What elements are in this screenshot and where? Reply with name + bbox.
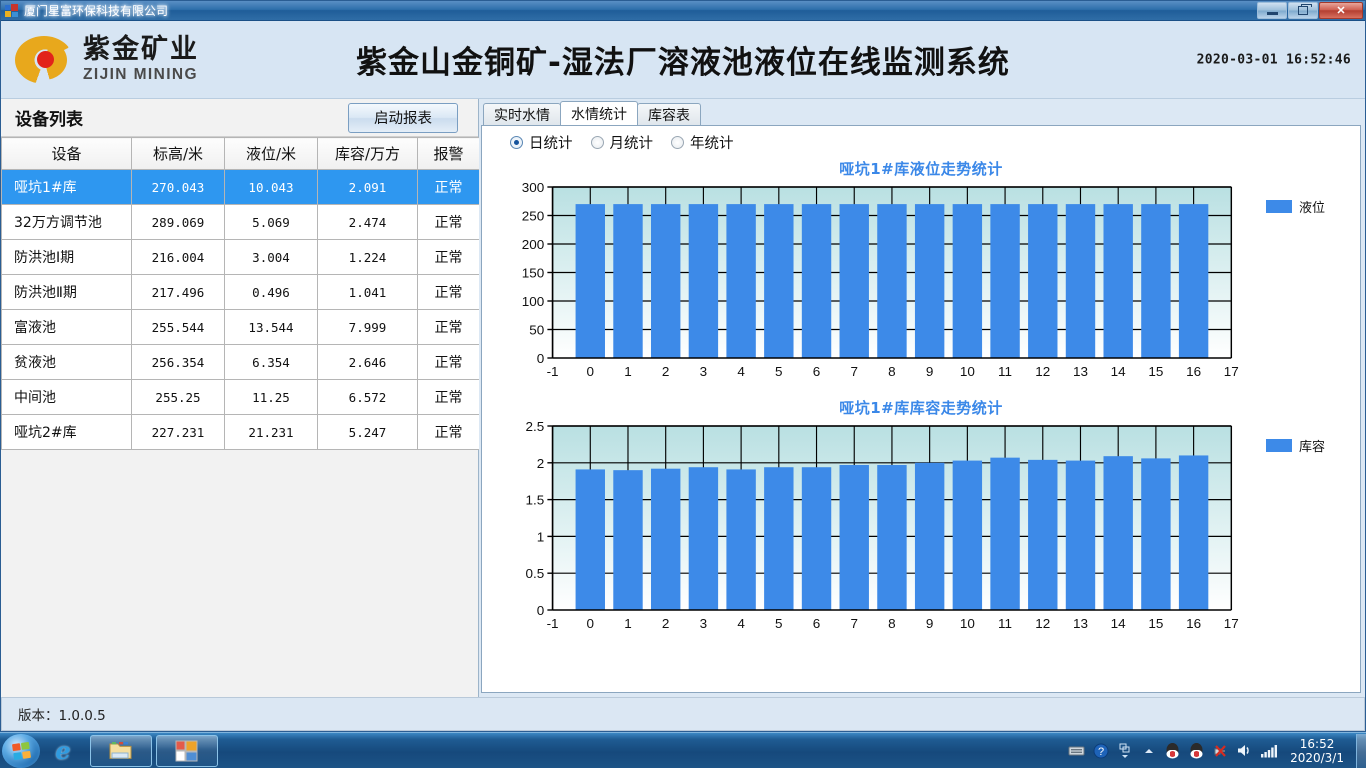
table-cell: 哑坑2#库 [2,415,132,450]
chart-capacity-trend-legend: 库容 [1250,418,1360,455]
svg-text:4: 4 [737,364,745,379]
ie-icon[interactable]: e [40,734,86,768]
windows-logo-icon [11,741,30,759]
system-tray: ? 16:52 2020/3/1 [1068,737,1356,765]
table-cell: 227.231 [132,415,225,450]
radio-1[interactable]: 月统计 [591,132,654,153]
device-list-header: 设备列表 启动报表 [1,99,478,137]
svg-text:8: 8 [888,364,896,379]
svg-text:15: 15 [1148,364,1163,379]
start-report-button[interactable]: 启动报表 [348,103,458,133]
svg-text:14: 14 [1111,364,1126,379]
radio-2[interactable]: 年统计 [671,132,734,153]
svg-text:0: 0 [537,351,545,366]
taskbar-clock-date: 2020/3/1 [1290,751,1344,765]
table-cell: 255.25 [132,380,225,415]
table-cell: 贫液池 [2,345,132,380]
table-row[interactable]: 防洪池Ⅱ期217.4960.4961.041正常 [2,275,480,310]
svg-text:300: 300 [522,180,545,195]
svg-text:2: 2 [662,616,670,631]
table-cell: 2.646 [318,345,418,380]
taskbar-clock-time: 16:52 [1290,737,1344,751]
table-cell: 正常 [418,205,480,240]
svg-text:16: 16 [1186,616,1201,631]
volume-icon[interactable] [1236,742,1253,759]
tab-0[interactable]: 实时水情 [483,103,561,125]
device-list-panel: 设备列表 启动报表 设备标高/米液位/米库容/万方报警 哑坑1#库270.043… [1,99,479,697]
table-column-header-2[interactable]: 液位/米 [225,138,318,170]
svg-text:12: 12 [1035,364,1050,379]
svg-text:-1: -1 [547,364,559,379]
table-cell: 256.354 [132,345,225,380]
table-cell: 正常 [418,310,480,345]
keyboard-icon[interactable] [1068,742,1085,759]
svg-text:150: 150 [522,266,545,281]
content-panel: 实时水情水情统计库容表 日统计月统计年统计 哑坑1#库液位走势统计 050100… [479,99,1365,697]
minimize-button[interactable] [1257,2,1287,19]
application-icon [5,4,19,18]
close-button[interactable]: ✕ [1319,2,1363,19]
chart-level-trend-legend: 液位 [1250,179,1360,216]
svg-text:17: 17 [1224,616,1239,631]
start-button[interactable] [2,734,40,768]
power-unplugged-icon[interactable] [1212,742,1229,759]
table-cell: 正常 [418,415,480,450]
radio-indicator-icon [510,136,523,149]
chart-capacity-trend-plot: 00.511.522.5-101234567891011121314151617 [482,418,1250,641]
statistics-period-group[interactable]: 日统计月统计年统计 [482,126,1360,158]
table-cell: 2.091 [318,170,418,205]
svg-text:9: 9 [926,364,934,379]
device-table[interactable]: 设备标高/米液位/米库容/万方报警 哑坑1#库270.04310.0432.09… [1,137,480,450]
svg-text:4: 4 [737,616,745,631]
table-row[interactable]: 32万方调节池289.0695.0692.474正常 [2,205,480,240]
table-header-row: 设备标高/米液位/米库容/万方报警 [2,138,480,170]
table-cell: 0.496 [225,275,318,310]
table-column-header-4[interactable]: 报警 [418,138,480,170]
table-cell: 正常 [418,380,480,415]
window-task-icon[interactable] [156,735,218,767]
svg-text:11: 11 [998,364,1012,379]
explorer-icon[interactable] [90,735,152,767]
table-cell: 255.544 [132,310,225,345]
table-row[interactable]: 防洪池Ⅰ期216.0043.0041.224正常 [2,240,480,275]
svg-text:1: 1 [624,364,632,379]
svg-text:2: 2 [537,456,545,471]
table-cell: 哑坑1#库 [2,170,132,205]
show-desktop-button[interactable] [1356,734,1366,768]
zijin-logo-icon [15,34,73,86]
svg-text:2: 2 [662,364,670,379]
table-cell: 5.069 [225,205,318,240]
device-list-title: 设备列表 [15,105,83,130]
table-cell: 3.004 [225,240,318,275]
svg-text:8: 8 [888,616,896,631]
svg-text:3: 3 [700,364,708,379]
table-column-header-1[interactable]: 标高/米 [132,138,225,170]
radio-0[interactable]: 日统计 [510,132,573,153]
table-cell: 289.069 [132,205,225,240]
table-cell: 13.544 [225,310,318,345]
table-cell: 270.043 [132,170,225,205]
svg-text:17: 17 [1224,364,1239,379]
logo-text-en: ZIJIN MINING [83,67,199,83]
table-row[interactable]: 富液池255.54413.5447.999正常 [2,310,480,345]
svg-text:100: 100 [522,294,545,309]
tab-strip[interactable]: 实时水情水情统计库容表 [481,101,1361,125]
radio-indicator-icon [671,136,684,149]
radio-indicator-icon [591,136,604,149]
legend-swatch-level [1266,200,1292,213]
svg-text:0.5: 0.5 [526,566,545,581]
svg-text:7: 7 [850,364,858,379]
svg-text:15: 15 [1148,616,1163,631]
legend-label-level: 液位 [1299,197,1325,216]
svg-text:16: 16 [1186,364,1201,379]
svg-text:6: 6 [813,616,821,631]
svg-text:14: 14 [1111,616,1126,631]
svg-text:5: 5 [775,616,783,631]
app-header-banner: 紫金矿业 ZIJIN MINING 紫金山金铜矿-湿法厂溶液池液位在线监测系统 … [1,21,1365,99]
svg-text:0: 0 [587,364,595,379]
table-cell: 6.354 [225,345,318,380]
chart-level-trend-plot: 050100150200250300-101234567891011121314… [482,179,1250,389]
table-row[interactable]: 哑坑1#库270.04310.0432.091正常 [2,170,480,205]
svg-text:5: 5 [775,364,783,379]
svg-text:1: 1 [624,616,632,631]
svg-text:13: 13 [1073,616,1088,631]
tab-page-water-statistics: 日统计月统计年统计 哑坑1#库液位走势统计 050100150200250300… [481,125,1361,693]
table-cell: 216.004 [132,240,225,275]
svg-text:7: 7 [850,616,858,631]
tab-2[interactable]: 库容表 [637,103,701,125]
chart-level-trend-title: 哑坑1#库液位走势统计 [482,158,1360,179]
legend-swatch-capacity [1266,439,1292,452]
help-icon[interactable]: ? [1092,742,1109,759]
chevron-up-icon[interactable] [1140,742,1157,759]
svg-text:?: ? [1098,746,1104,758]
svg-text:10: 10 [960,616,975,631]
main-body: 设备列表 启动报表 设备标高/米液位/米库容/万方报警 哑坑1#库270.043… [1,99,1365,697]
table-column-header-3[interactable]: 库容/万方 [318,138,418,170]
page-title: 紫金山金铜矿-湿法厂溶液池液位在线监测系统 [1,37,1365,82]
app-window-icon [175,740,199,762]
table-cell: 21.231 [225,415,318,450]
svg-text:-1: -1 [547,616,559,631]
svg-text:3: 3 [700,616,708,631]
table-cell: 6.572 [318,380,418,415]
svg-text:6: 6 [813,364,821,379]
chart-level-trend: 哑坑1#库液位走势统计 050100150200250300-101234567… [482,158,1360,389]
svg-text:2.5: 2.5 [526,419,545,434]
signal-strength-icon[interactable] [1260,742,1277,759]
logo-text-cn: 紫金矿业 [83,36,199,63]
version-label: 版本：1.0.0.5 [18,704,106,724]
device-list-empty-space [1,450,478,697]
table-cell: 正常 [418,240,480,275]
table-column-header-0[interactable]: 设备 [2,138,132,170]
table-cell: 10.043 [225,170,318,205]
svg-text:13: 13 [1073,364,1088,379]
table-body[interactable]: 哑坑1#库270.04310.0432.091正常32万方调节池289.0695… [2,170,480,450]
table-cell: 防洪池Ⅱ期 [2,275,132,310]
logo-wordmark: 紫金矿业 ZIJIN MINING [83,36,199,83]
radio-label: 日统计 [529,132,573,153]
table-cell: 2.474 [318,205,418,240]
qq-icon[interactable] [1164,742,1181,759]
svg-text:11: 11 [998,616,1012,631]
table-row[interactable]: 贫液池256.3546.3542.646正常 [2,345,480,380]
window-controls: ✕ [1257,2,1363,19]
svg-text:250: 250 [522,209,545,224]
svg-text:0: 0 [537,603,545,618]
table-cell: 7.999 [318,310,418,345]
table-row[interactable]: 中间池255.2511.256.572正常 [2,380,480,415]
table-cell: 5.247 [318,415,418,450]
table-row[interactable]: 哑坑2#库227.23121.2315.247正常 [2,415,480,450]
svg-text:1: 1 [537,530,545,545]
taskbar-clock[interactable]: 16:52 2020/3/1 [1284,737,1352,765]
qq-icon-2[interactable] [1188,742,1205,759]
application-window: 厦门星富环保科技有限公司 ✕ 紫金矿业 ZIJIN MINING 紫金山金铜矿-… [0,0,1366,732]
svg-text:0: 0 [587,616,595,631]
table-cell: 中间池 [2,380,132,415]
radio-label: 月统计 [610,132,654,153]
chart-capacity-trend-title: 哑坑1#库库容走势统计 [482,397,1360,418]
windows-taskbar: e ? [0,732,1366,768]
status-bar: 版本：1.0.0.5 [1,697,1365,731]
table-cell: 11.25 [225,380,318,415]
company-logo: 紫金矿业 ZIJIN MINING [1,34,199,86]
legend-label-capacity: 库容 [1299,436,1325,455]
maximize-restore-button[interactable] [1288,2,1318,19]
svg-text:10: 10 [960,364,975,379]
svg-text:12: 12 [1035,616,1050,631]
table-cell: 1.224 [318,240,418,275]
table-cell: 正常 [418,170,480,205]
svg-text:9: 9 [926,616,934,631]
table-cell: 217.496 [132,275,225,310]
chart-capacity-trend: 哑坑1#库库容走势统计 00.511.522.5-101234567891011… [482,397,1360,641]
table-cell: 正常 [418,275,480,310]
table-cell: 富液池 [2,310,132,345]
window-titlebar: 厦门星富环保科技有限公司 ✕ [1,1,1365,21]
table-cell: 防洪池Ⅰ期 [2,240,132,275]
table-cell: 32万方调节池 [2,205,132,240]
table-cell: 正常 [418,345,480,380]
show-hidden-icons-icon[interactable] [1116,742,1133,759]
tab-1[interactable]: 水情统计 [560,101,638,125]
window-title: 厦门星富环保科技有限公司 [24,4,168,18]
folder-icon [108,740,134,762]
svg-text:50: 50 [529,323,544,338]
svg-text:1.5: 1.5 [526,493,545,508]
header-datetime: 2020-03-01 16:52:46 [1197,52,1351,67]
svg-text:200: 200 [522,237,545,252]
radio-label: 年统计 [690,132,734,153]
table-cell: 1.041 [318,275,418,310]
